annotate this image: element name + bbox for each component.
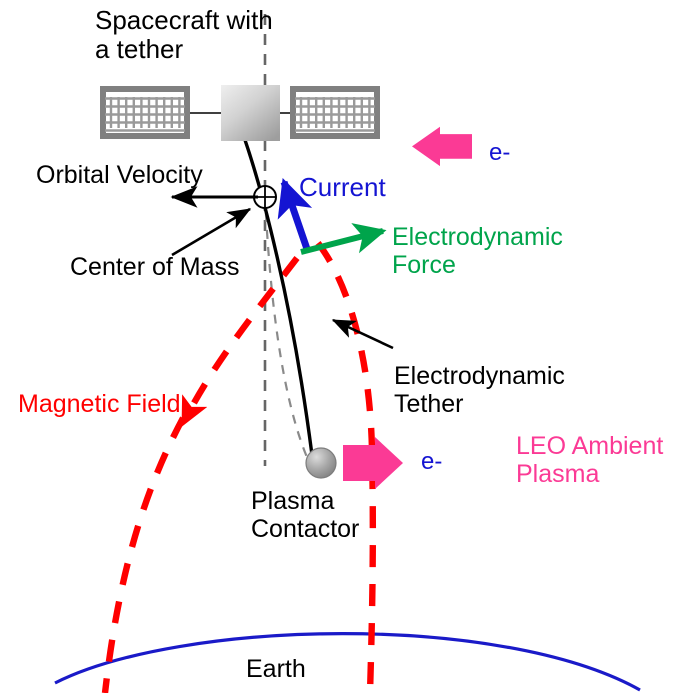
magnetic-field-line-left — [185, 258, 297, 420]
magnetic-field-label: Magnetic Field — [18, 390, 181, 418]
center-of-mass-label: Center of Mass — [70, 253, 240, 281]
electrodynamic-tether-leader — [333, 320, 393, 348]
electrodynamic-tether-diagram: Spacecraft with a tether Orbital Velocit… — [0, 0, 693, 693]
earth-label: Earth — [246, 655, 306, 683]
spacecraft-label: Spacecraft with a tether — [95, 6, 273, 64]
spacecraft-bus — [221, 85, 280, 141]
electron-label-top: e- — [489, 140, 510, 167]
earth-arc — [55, 634, 640, 690]
electron-label-bottom: e- — [421, 449, 442, 476]
orbital-velocity-label: Orbital Velocity — [36, 161, 203, 189]
leo-ambient-plasma-label: LEO Ambient Plasma — [516, 432, 663, 488]
plasma-contactor-label: Plasma Contactor — [251, 487, 359, 543]
solar-panel-left — [103, 89, 224, 136]
electron-arrow-top — [412, 127, 472, 166]
plasma-contactor-sphere — [306, 448, 336, 478]
solar-panel-right — [279, 89, 377, 136]
current-label: Current — [299, 173, 386, 202]
magnetic-field-line-left-lower — [105, 418, 183, 693]
center-of-mass-leader — [172, 209, 250, 255]
diagram-canvas — [0, 0, 693, 693]
electrodynamic-force-label: Electrodynamic Force — [392, 223, 563, 279]
electrodynamic-force-arrow — [301, 231, 383, 252]
electrodynamic-tether-label: Electrodynamic Tether — [394, 362, 565, 418]
